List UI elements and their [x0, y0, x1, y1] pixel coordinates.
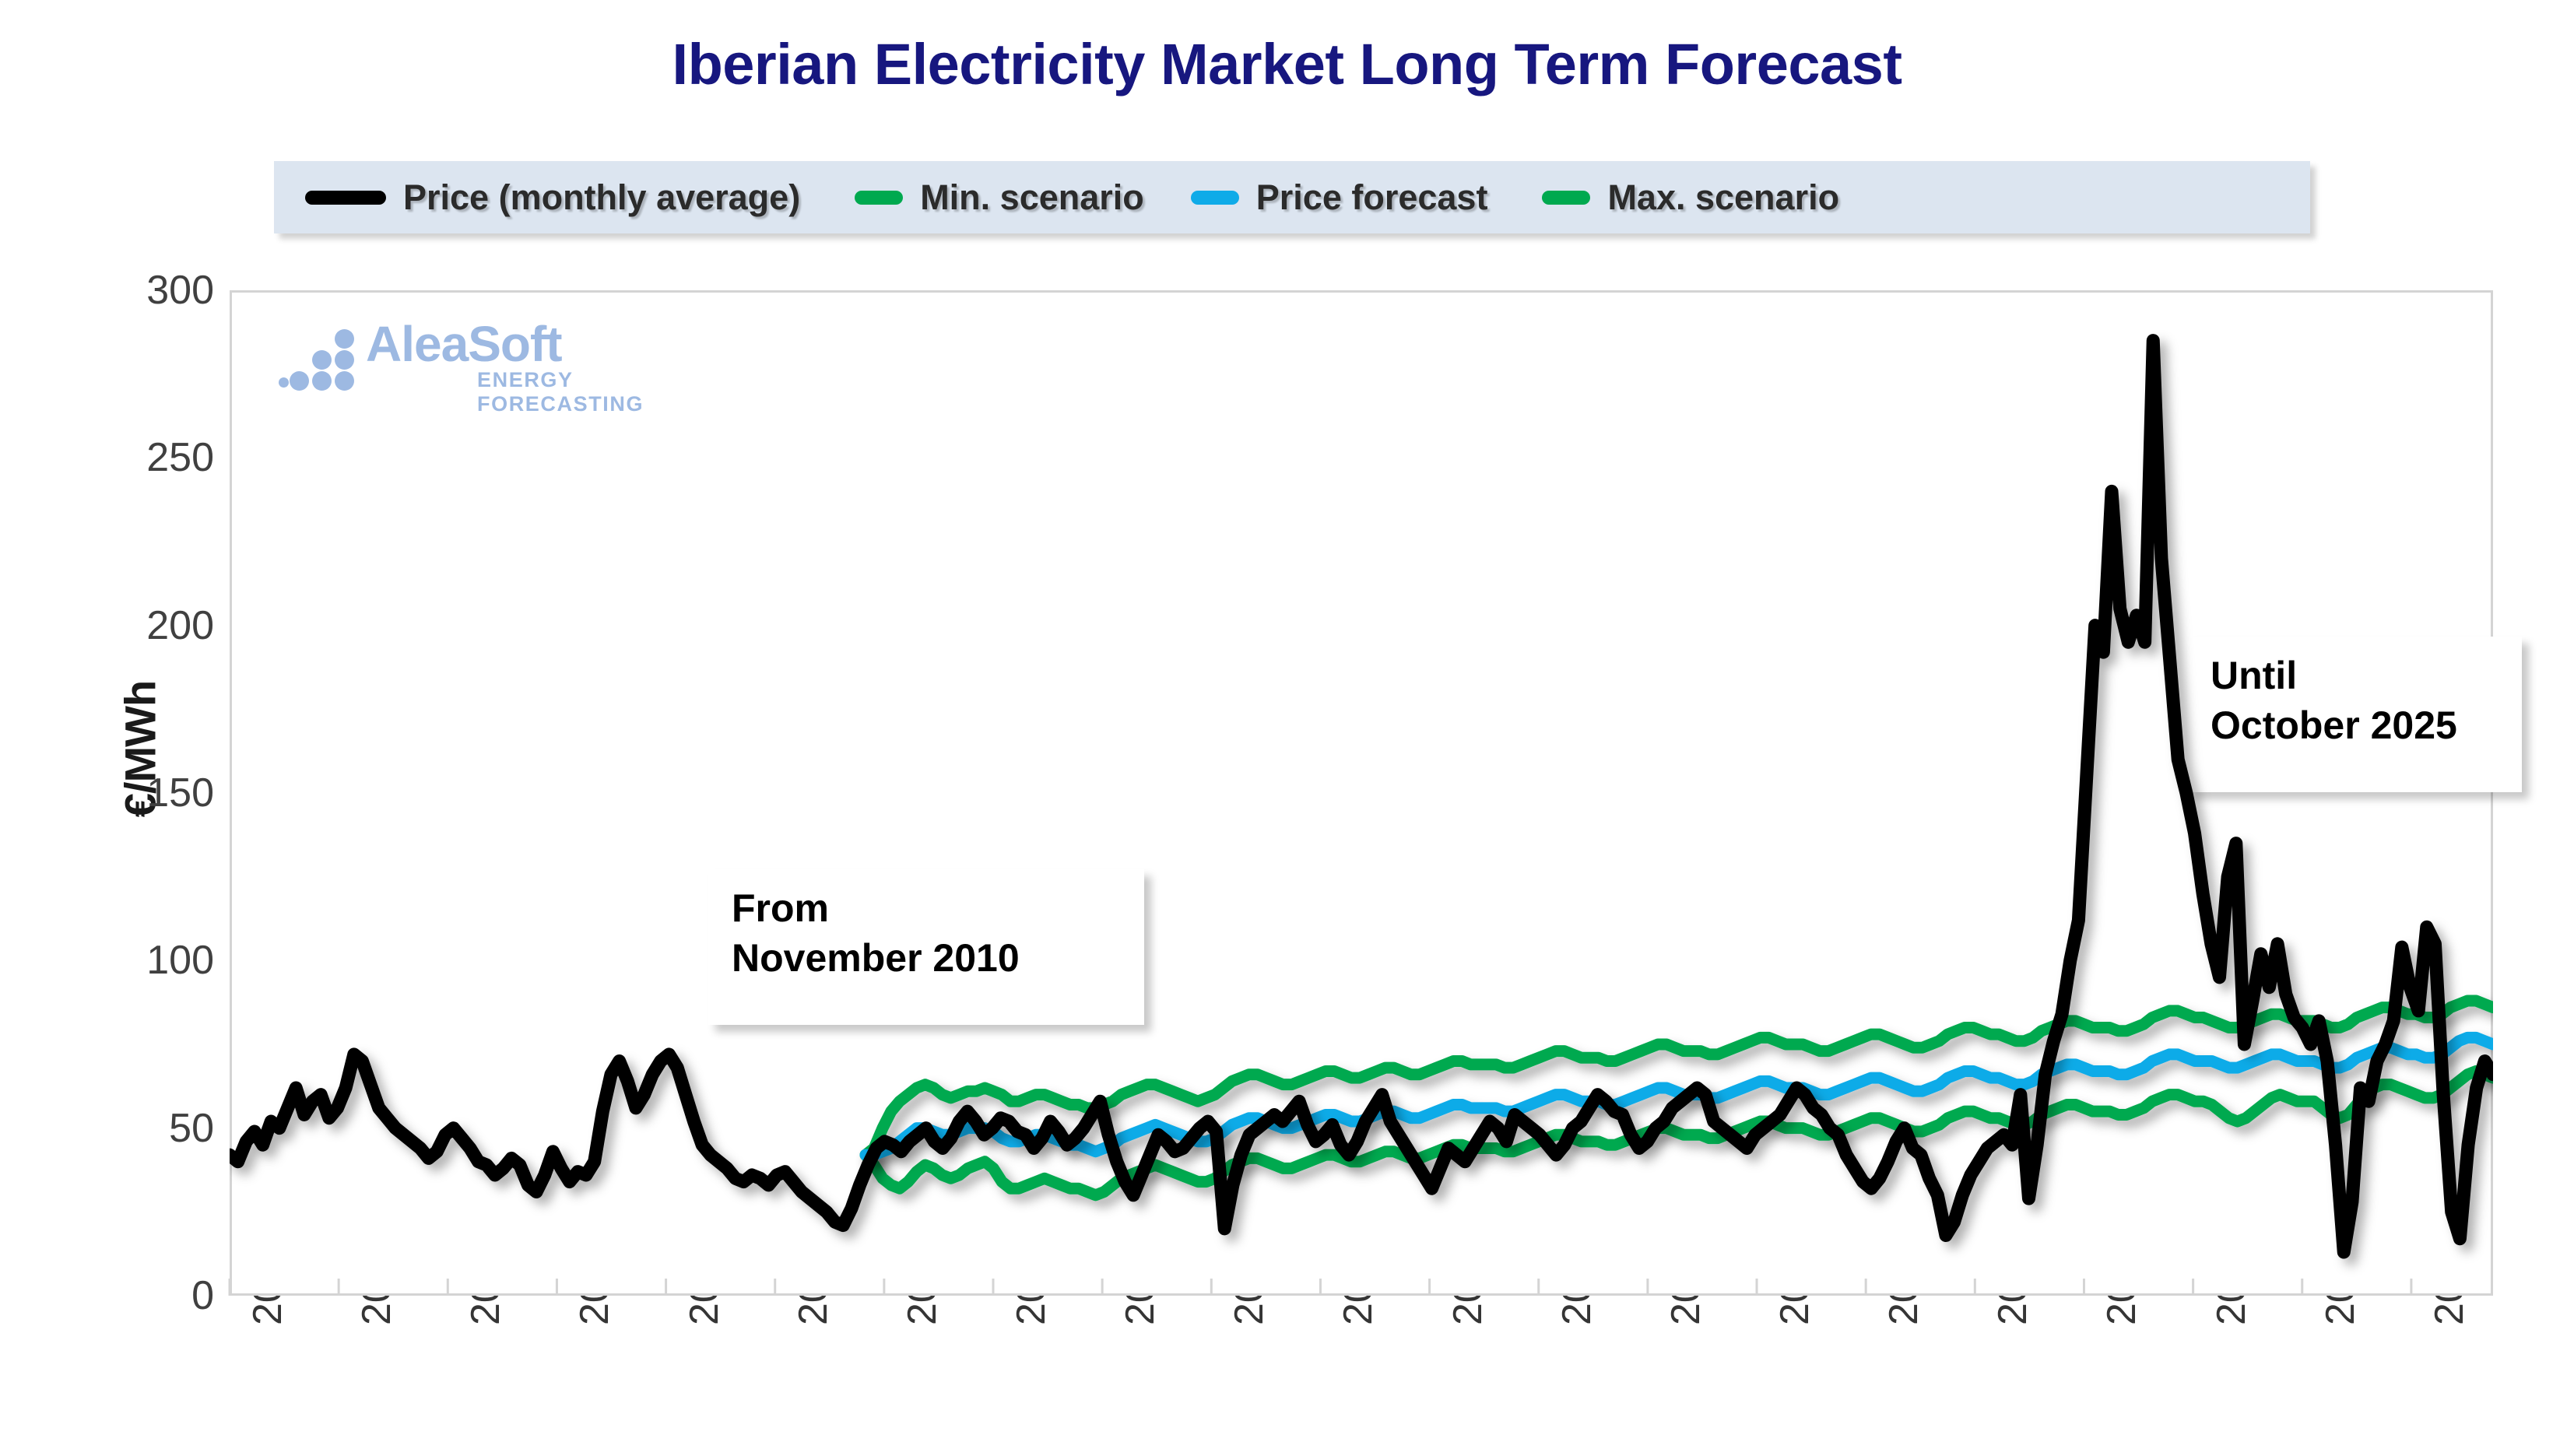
- chart-root: Iberian Electricity Market Long Term For…: [0, 0, 2574, 1456]
- plot-area: [230, 290, 2493, 1296]
- annotation-line-2: November 2010: [732, 933, 1121, 983]
- annotation-line-1: Until: [2211, 651, 2499, 700]
- annotation-until-october-2025: Until October 2025: [2187, 637, 2522, 792]
- annotation-from-november-2010: From November 2010: [708, 869, 1144, 1025]
- annotation-line-2: October 2025: [2211, 700, 2499, 750]
- annotation-line-1: From: [732, 883, 1121, 933]
